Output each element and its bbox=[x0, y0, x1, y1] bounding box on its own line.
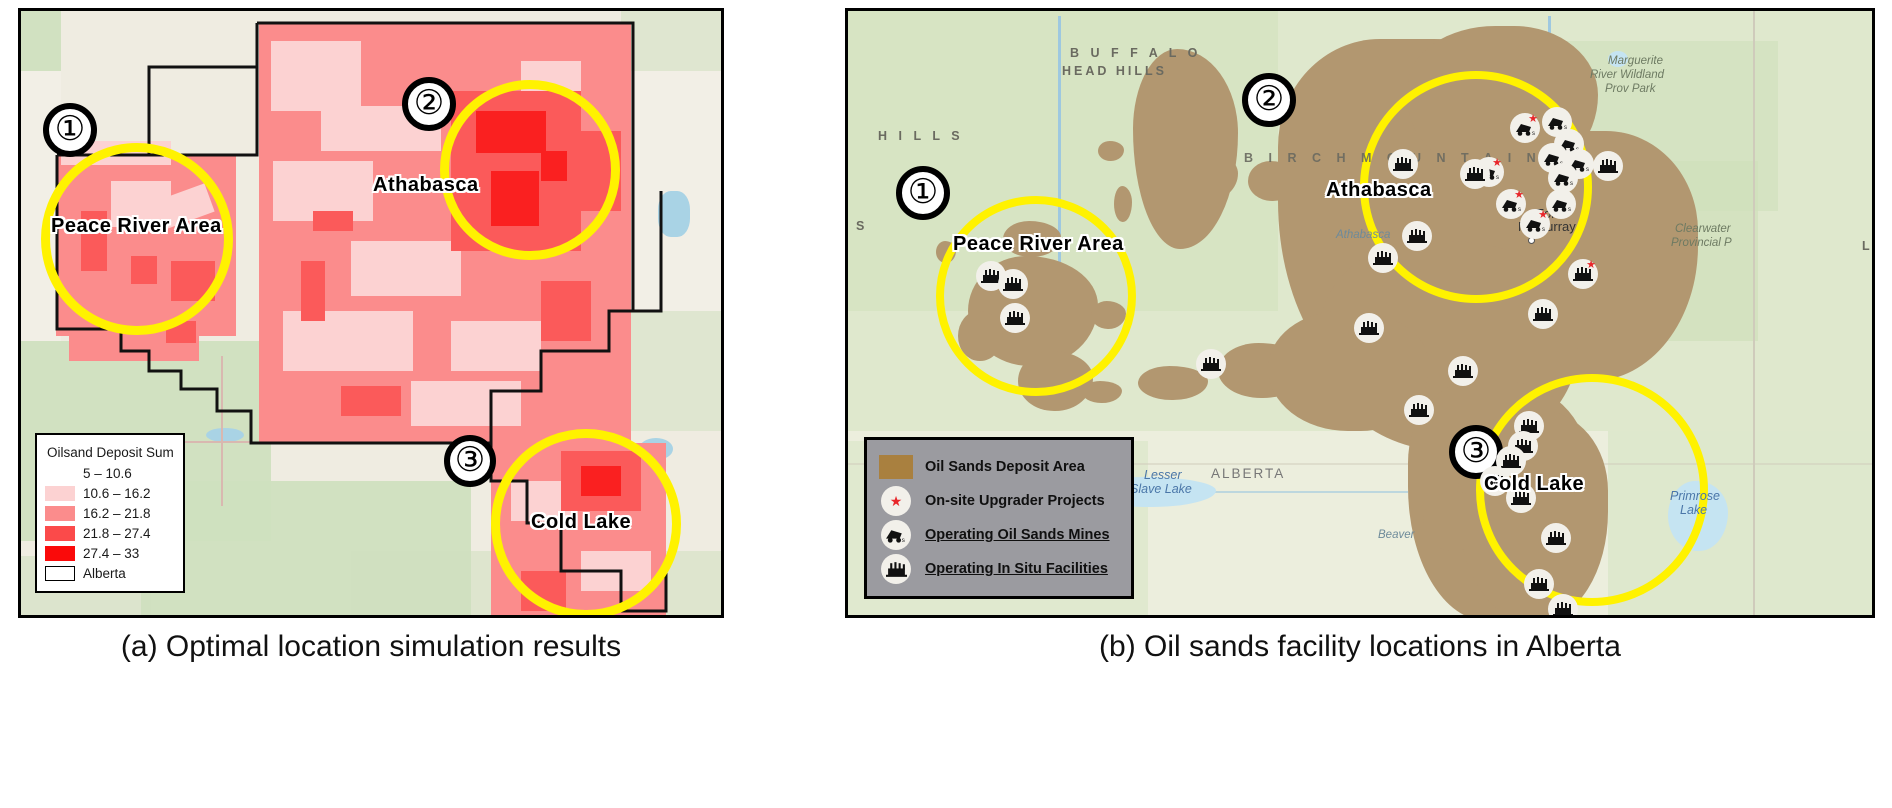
facility-icon-mine-upgrader[interactable]: s ★ bbox=[1510, 113, 1540, 143]
legend-item-label: 21.8 – 27.4 bbox=[83, 526, 151, 541]
svg-text:s: s bbox=[1496, 175, 1499, 180]
in-situ-facility-icon bbox=[1501, 454, 1521, 468]
in-situ-facility-icon bbox=[1453, 364, 1473, 378]
facility-icon-in-situ[interactable] bbox=[998, 269, 1028, 299]
legend-item-label[interactable]: Operating Oil Sands Mines bbox=[925, 527, 1110, 543]
legend-item-label: 10.6 – 16.2 bbox=[83, 486, 151, 501]
legend-swatch-oil-sands bbox=[879, 455, 913, 479]
facility-icon-mine-upgrader[interactable]: s ★ bbox=[1496, 189, 1526, 219]
facility-icon-in-situ[interactable] bbox=[1368, 243, 1398, 273]
in-situ-facility-icon bbox=[886, 562, 907, 577]
facility-icon-in-situ[interactable] bbox=[1388, 149, 1418, 179]
legend-icon-wrap: ★ bbox=[879, 486, 913, 516]
red-star-icon: ★ bbox=[1492, 158, 1502, 169]
in-situ-facility-icon bbox=[1393, 157, 1413, 171]
panel-b-facility-map: ① ② ③ B U F F A L O HEAD HILLS H I L L S… bbox=[845, 8, 1875, 618]
svg-text:s: s bbox=[1586, 167, 1589, 172]
oil-sands-deposit-area bbox=[1423, 491, 1483, 551]
facility-icon-in-situ[interactable] bbox=[1593, 151, 1623, 181]
legend-item-label: 27.4 – 33 bbox=[83, 546, 139, 561]
facility-icon-in-situ-upgrader[interactable]: ★ bbox=[1568, 259, 1598, 289]
facility-icon-in-situ[interactable] bbox=[1460, 159, 1490, 189]
legend-title: Oilsand Deposit Sum bbox=[47, 445, 177, 460]
legend-item[interactable]: 27.4 – 33 bbox=[45, 544, 177, 563]
mining-truck-icon: s bbox=[1547, 115, 1568, 130]
facility-icon-in-situ[interactable] bbox=[1541, 523, 1571, 553]
legend-icon-wrap: s bbox=[879, 520, 913, 550]
facility-icon-mine-upgrader[interactable]: s ★ bbox=[1520, 209, 1550, 239]
in-situ-facility-icon bbox=[1598, 159, 1618, 173]
facility-icon-in-situ[interactable] bbox=[1196, 349, 1226, 379]
region-marker-2: ② bbox=[402, 77, 456, 131]
legend-item[interactable]: s Operating Oil Sands Mines bbox=[879, 518, 1121, 552]
figure-root: ① ② ③ Peace River Area Athabasca Cold La… bbox=[0, 0, 1892, 808]
legend-item[interactable]: ★ On-site Upgrader Projects bbox=[879, 484, 1121, 518]
mining-truck-icon: s bbox=[1551, 197, 1572, 212]
svg-text:s: s bbox=[902, 537, 905, 543]
map-frame-b[interactable]: ① ② ③ B U F F A L O HEAD HILLS H I L L S… bbox=[845, 8, 1875, 618]
legend-swatch bbox=[45, 546, 75, 561]
svg-text:s: s bbox=[1542, 227, 1545, 232]
area-label-athabasca: Athabasca bbox=[373, 174, 479, 197]
in-situ-facility-icon bbox=[1529, 577, 1549, 591]
in-situ-facility-icon bbox=[1201, 357, 1221, 371]
legend-item[interactable]: Oil Sands Deposit Area bbox=[879, 450, 1121, 484]
red-star-icon: ★ bbox=[1514, 190, 1524, 201]
caption-panel-a: (a) Optimal location simulation results bbox=[18, 630, 724, 664]
legend-item[interactable]: 21.8 – 27.4 bbox=[45, 524, 177, 543]
facility-icon-in-situ[interactable] bbox=[1524, 569, 1554, 599]
legend-panel-b[interactable]: Oil Sands Deposit Area ★ On-site Upgrade… bbox=[864, 437, 1134, 599]
area-label-cold-lake: Cold Lake bbox=[531, 511, 631, 534]
legend-swatch bbox=[45, 486, 75, 501]
svg-text:s: s bbox=[1532, 131, 1535, 136]
mining-truck-icon: s bbox=[885, 527, 907, 543]
facility-icon-mine[interactable]: s bbox=[1546, 189, 1576, 219]
red-star-icon: ★ bbox=[890, 494, 903, 508]
panel-a-optimal-location-map: ① ② ③ Peace River Area Athabasca Cold La… bbox=[18, 8, 724, 618]
region-marker-1: ① bbox=[43, 103, 97, 157]
facility-icon-in-situ[interactable] bbox=[1448, 356, 1478, 386]
facility-icon-upgrader: ★ bbox=[881, 486, 911, 516]
in-situ-facility-icon bbox=[1533, 307, 1553, 321]
red-star-icon: ★ bbox=[1538, 210, 1548, 221]
legend-swatch-alberta-outline bbox=[45, 566, 75, 581]
legend-item-label: On-site Upgrader Projects bbox=[925, 493, 1105, 509]
highlight-circle-1 bbox=[41, 143, 233, 335]
facility-icon-in-situ[interactable] bbox=[1548, 594, 1578, 618]
in-situ-facility-icon bbox=[1553, 602, 1573, 616]
legend-item[interactable]: Alberta bbox=[45, 564, 177, 583]
legend-item-label: 16.2 – 21.8 bbox=[83, 506, 151, 521]
facility-icon-in-situ bbox=[881, 554, 911, 584]
in-situ-facility-icon bbox=[1359, 321, 1379, 335]
svg-text:s: s bbox=[1568, 207, 1571, 212]
region-marker-3: ③ bbox=[444, 435, 496, 487]
highlight-circle-1 bbox=[936, 196, 1136, 396]
in-situ-facility-icon bbox=[1546, 531, 1566, 545]
in-situ-facility-icon bbox=[1407, 229, 1427, 243]
lake-shape bbox=[1608, 51, 1628, 67]
svg-text:s: s bbox=[1518, 207, 1521, 212]
legend-item-label: 5 – 10.6 bbox=[83, 466, 132, 481]
map-frame-a[interactable]: ① ② ③ Peace River Area Athabasca Cold La… bbox=[18, 8, 724, 618]
legend-swatch bbox=[45, 526, 75, 541]
legend-item-label[interactable]: Operating In Situ Facilities bbox=[925, 561, 1108, 577]
facility-icon-in-situ[interactable] bbox=[1402, 221, 1432, 251]
in-situ-facility-icon bbox=[1409, 403, 1429, 417]
facility-icon-in-situ[interactable] bbox=[1404, 395, 1434, 425]
facility-icon-in-situ[interactable] bbox=[1528, 299, 1558, 329]
svg-text:s: s bbox=[1570, 181, 1573, 186]
in-situ-facility-icon bbox=[1003, 277, 1023, 291]
caption-panel-b: (b) Oil sands facility locations in Albe… bbox=[845, 630, 1875, 664]
legend-swatch bbox=[45, 506, 75, 521]
legend-item[interactable]: 10.6 – 16.2 bbox=[45, 484, 177, 503]
legend-panel-a[interactable]: Oilsand Deposit Sum 5 – 10.6 10.6 – 16.2… bbox=[35, 433, 185, 593]
facility-icon-in-situ[interactable] bbox=[1354, 313, 1384, 343]
region-marker-2: ② bbox=[1242, 73, 1296, 127]
legend-item[interactable]: 5 – 10.6 bbox=[45, 464, 177, 483]
area-label-cold-lake: Cold Lake bbox=[1484, 473, 1584, 496]
facility-icon-mine: s bbox=[881, 520, 911, 550]
highlight-circle-2 bbox=[440, 80, 620, 260]
red-star-icon: ★ bbox=[1528, 114, 1538, 125]
area-label-peace-river: Peace River Area bbox=[953, 233, 1124, 256]
legend-icon-wrap bbox=[879, 554, 913, 584]
region-marker-1: ① bbox=[896, 166, 950, 220]
area-label-athabasca: Athabasca bbox=[1326, 179, 1432, 202]
facility-icon-in-situ[interactable] bbox=[1000, 303, 1030, 333]
legend-item[interactable]: 16.2 – 21.8 bbox=[45, 504, 177, 523]
area-label-peace-river: Peace River Area bbox=[51, 215, 222, 238]
grid-line bbox=[1753, 11, 1755, 618]
legend-item-label: Alberta bbox=[83, 566, 126, 581]
in-situ-facility-icon bbox=[1465, 167, 1485, 181]
in-situ-facility-icon bbox=[1373, 251, 1393, 265]
legend-item[interactable]: Operating In Situ Facilities bbox=[879, 552, 1121, 586]
red-star-icon: ★ bbox=[1586, 260, 1596, 271]
legend-item-label: Oil Sands Deposit Area bbox=[925, 459, 1085, 475]
in-situ-facility-icon bbox=[1005, 311, 1025, 325]
mining-truck-icon: s bbox=[1553, 171, 1574, 186]
